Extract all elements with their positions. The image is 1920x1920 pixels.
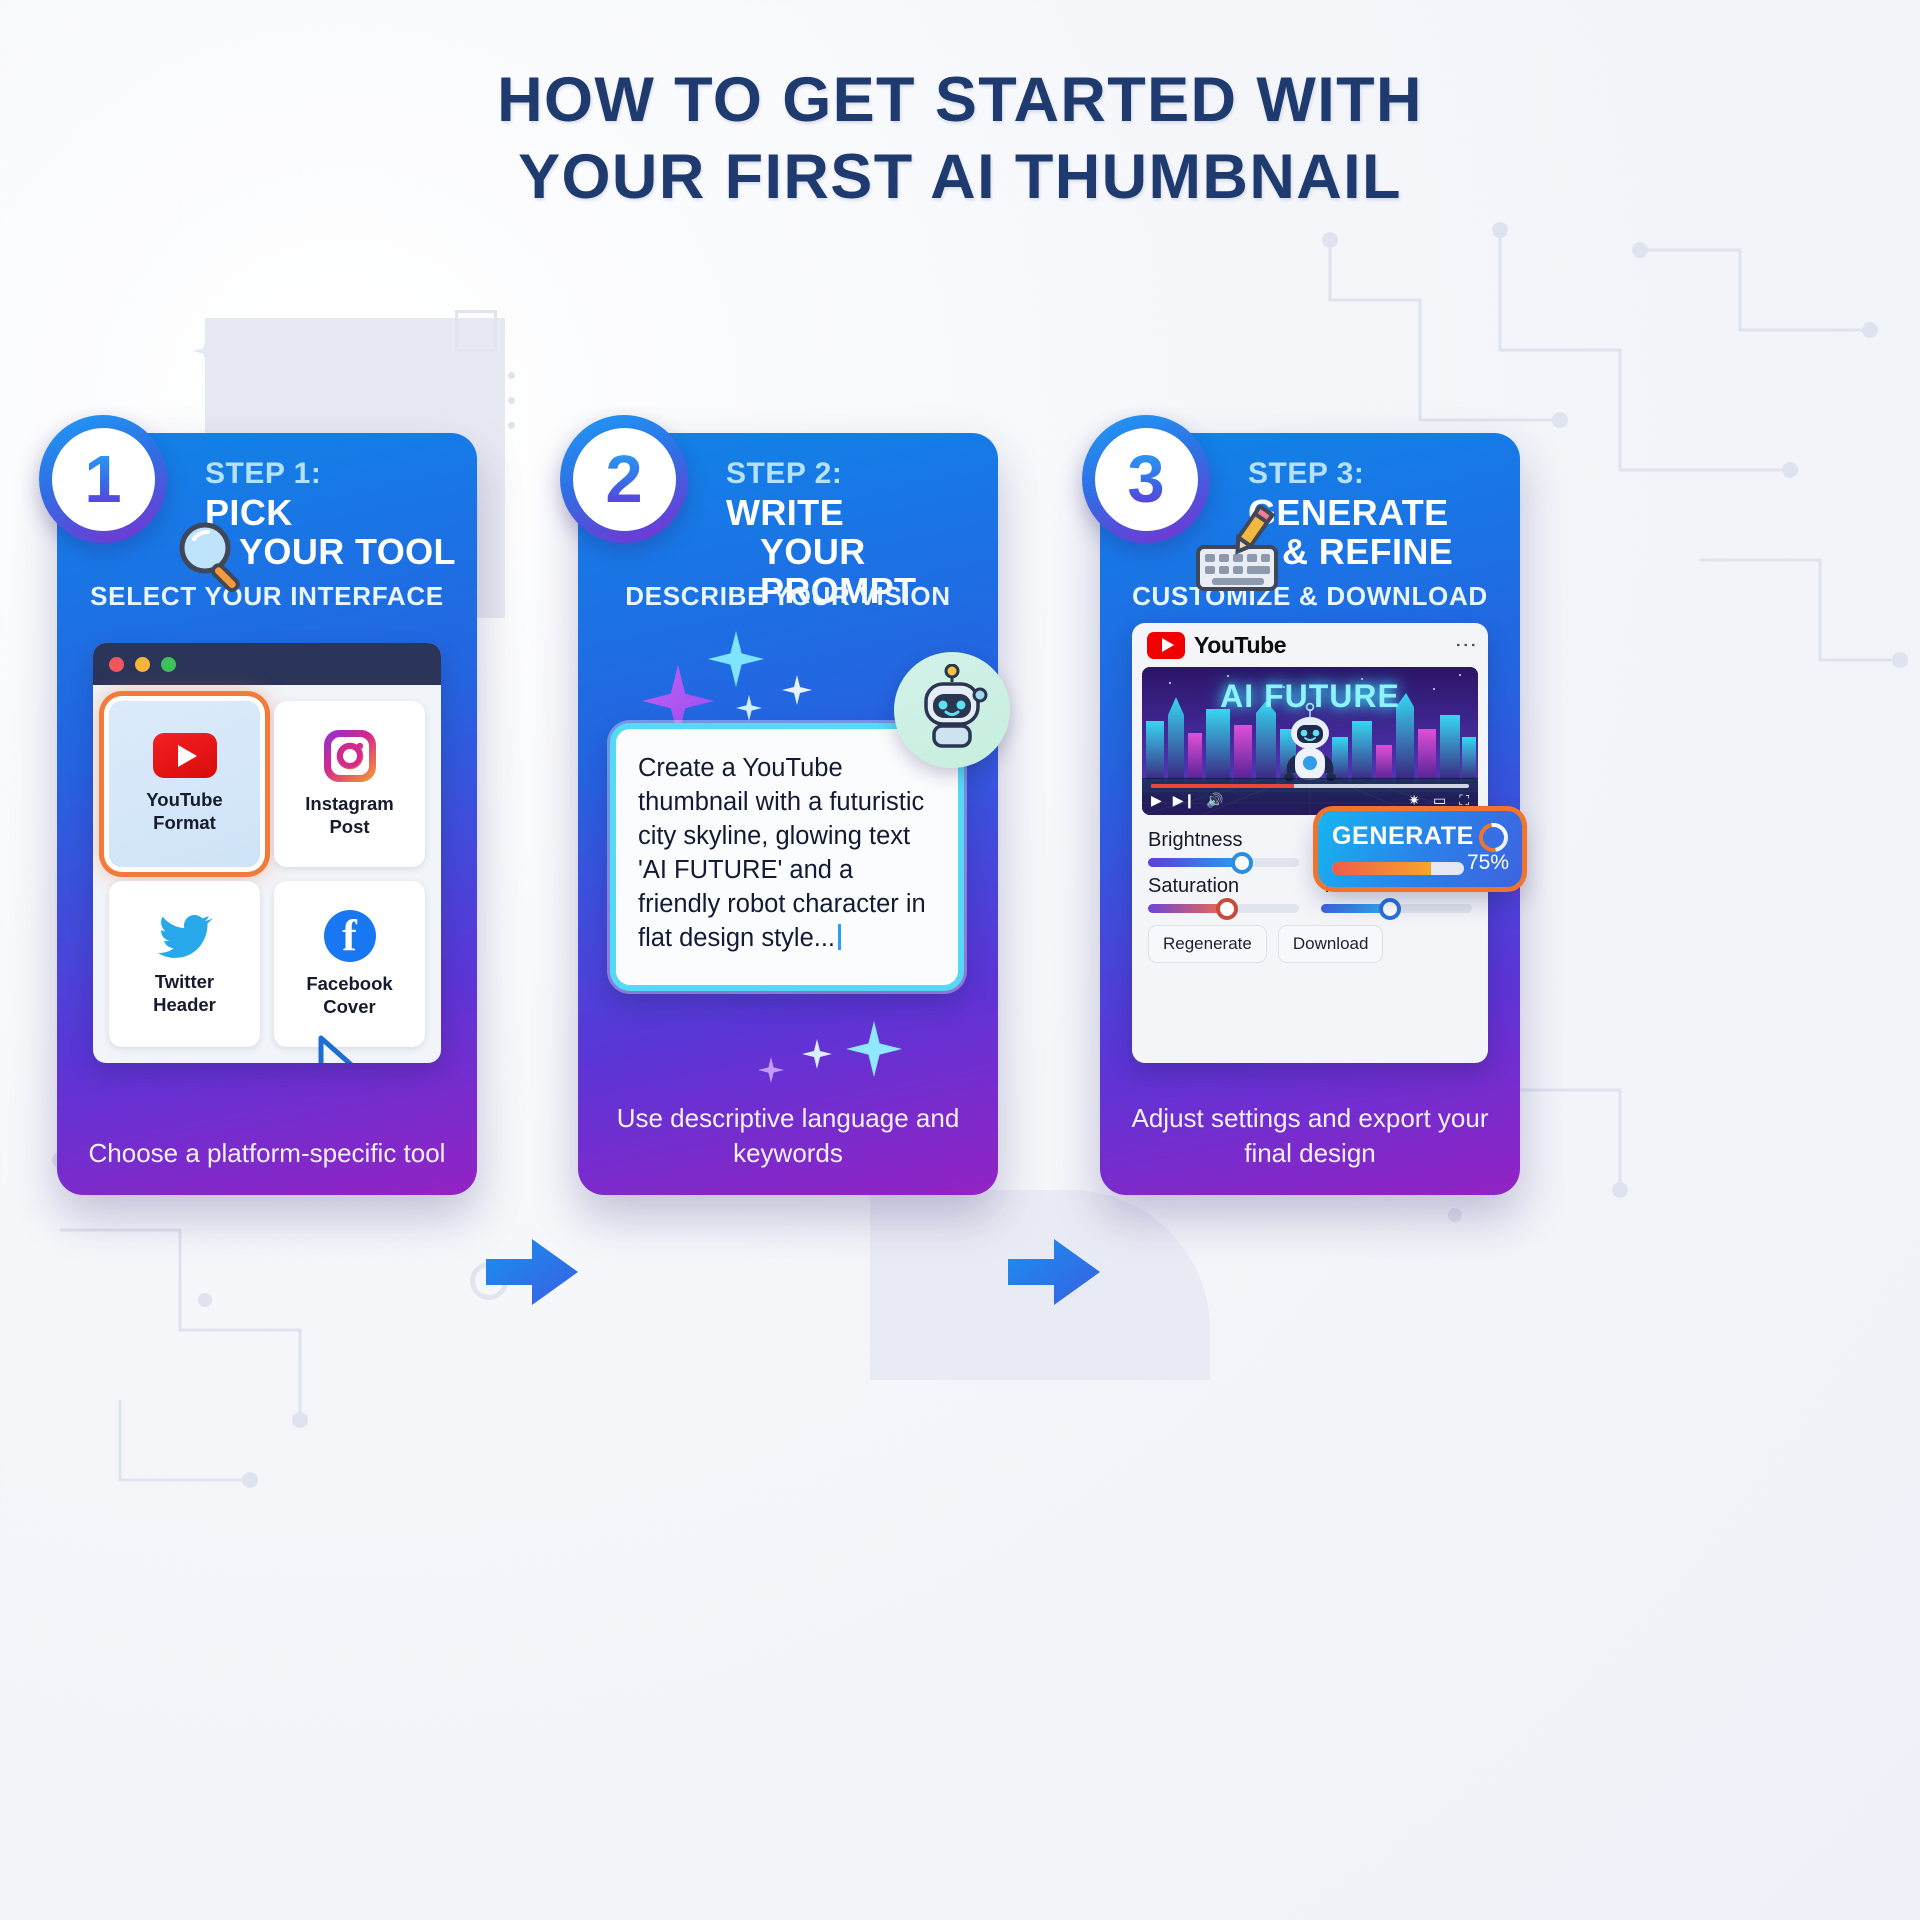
card-subtitle: DESCRIBE YOUR VISION (578, 581, 998, 612)
magnifier-icon (169, 515, 255, 601)
window-close-dot[interactable] (109, 657, 124, 672)
generate-progress-bar (1332, 862, 1464, 875)
settings-gear-icon[interactable]: ✷ (1408, 792, 1420, 809)
sparkle-icon (782, 675, 812, 705)
format-tile-grid: YouTube Format Instagram Post (93, 685, 441, 1063)
arrow-right-icon (484, 1235, 580, 1309)
youtube-brand-label: YouTube (1194, 632, 1286, 659)
player-controls: ▶ ▶❙ 🔊 ✷ ▭ ⛶ (1142, 778, 1478, 815)
card-caption: Use descriptive language and keywords (600, 1101, 976, 1171)
browser-titlebar (93, 643, 441, 685)
volume-icon[interactable]: 🔊 (1206, 792, 1223, 809)
instagram-icon (324, 730, 376, 782)
sparkle-icon (802, 1039, 832, 1069)
video-player[interactable]: AI FUTURE ▶ ▶❙ 🔊 ✷ ▭ ⛶ (1142, 667, 1478, 815)
step-number: 3 (1127, 446, 1164, 513)
slider-label: Brightness (1148, 829, 1299, 852)
card-subtitle: CUSTOMIZE & DOWNLOAD (1100, 581, 1520, 612)
step-card-1: 1 STEP 1: PICK YOUR TOOL SELECT YOUR INT… (57, 433, 477, 1195)
regenerate-button[interactable]: Regenerate (1148, 925, 1267, 963)
tile-label: Instagram Post (305, 793, 393, 838)
slider-label: Saturation (1148, 875, 1299, 898)
sparkle-icon (846, 1021, 902, 1077)
more-vertical-icon[interactable]: ⋮ (1460, 634, 1473, 656)
card-caption: Adjust settings and export your final de… (1122, 1101, 1498, 1171)
slider-knob[interactable] (1231, 852, 1253, 874)
heading-line-1: WRITE (726, 492, 844, 533)
step-badge-2: 2 (560, 415, 688, 543)
youtube-icon (153, 733, 217, 778)
title-line-1: HOW TO GET STARTED WITH (0, 62, 1920, 139)
play-icon[interactable]: ▶ (1151, 792, 1162, 809)
window-minimize-dot[interactable] (135, 657, 150, 672)
format-tile-youtube[interactable]: YouTube Format (109, 701, 260, 867)
step-label: STEP 1: (205, 457, 463, 491)
step-number: 1 (84, 446, 121, 513)
youtube-icon (1147, 632, 1185, 659)
step-card-2: 2 STEP 2: WRITE YOUR PROMPT DESCRIBE YOU… (578, 433, 998, 1195)
download-button[interactable]: Download (1278, 925, 1384, 963)
step-label: STEP 3: (1248, 457, 1506, 491)
heading-line-2: YOUR TOOL (239, 533, 463, 572)
action-buttons: Regenerate Download (1132, 921, 1488, 963)
prompt-input[interactable]: Create a YouTube thumbnail with a futuri… (610, 723, 964, 991)
sparkle-icon (758, 1057, 784, 1083)
window-maximize-dot[interactable] (161, 657, 176, 672)
arrow-right-icon (1006, 1235, 1102, 1309)
format-tile-twitter[interactable]: Twitter Header (109, 881, 260, 1047)
theater-mode-icon[interactable]: ▭ (1433, 792, 1446, 809)
keyboard-pencil-icon (1192, 505, 1288, 601)
heading-line-2: & REFINE (1282, 533, 1506, 572)
mouse-pointer-icon (315, 1035, 373, 1063)
slider-knob[interactable] (1216, 898, 1238, 920)
title-line-2: YOUR FIRST AI THUMBNAIL (0, 139, 1920, 216)
page-title: HOW TO GET STARTED WITH YOUR FIRST AI TH… (0, 62, 1920, 216)
generate-button[interactable]: GENERATE 75% (1318, 811, 1522, 887)
thumbnail-title-text: AI FUTURE (1142, 678, 1478, 715)
decor-square (455, 310, 497, 352)
slider-saturation[interactable]: Saturation (1148, 875, 1299, 913)
step-label: STEP 2: (726, 457, 984, 491)
tile-label: Facebook Cover (306, 973, 392, 1018)
format-tile-facebook[interactable]: f Facebook Cover (274, 881, 425, 1047)
sparkle-icon (708, 631, 764, 687)
sparkle-icon (193, 338, 219, 364)
facebook-icon: f (324, 910, 376, 962)
tile-label: YouTube Format (146, 789, 222, 834)
next-icon[interactable]: ▶❙ (1173, 792, 1196, 809)
step-number: 2 (605, 446, 642, 513)
text-caret (838, 924, 841, 950)
browser-mockup: YouTube Format Instagram Post (93, 643, 441, 1063)
progress-bar[interactable] (1151, 784, 1469, 788)
twitter-icon (157, 912, 213, 960)
fullscreen-icon[interactable]: ⛶ (1459, 792, 1469, 809)
slider-knob[interactable] (1379, 898, 1401, 920)
generate-progress-text: 75% (1467, 851, 1509, 875)
step-badge-1: 1 (39, 415, 167, 543)
step-badge-3: 3 (1082, 415, 1210, 543)
step-card-3: 3 STEP 3: GENERATE & REFINE CUSTOMIZE & … (1100, 433, 1520, 1195)
prompt-text: Create a YouTube thumbnail with a futuri… (638, 751, 936, 955)
slider-brightness[interactable]: Brightness (1148, 829, 1299, 867)
card-caption: Choose a platform-specific tool (79, 1136, 455, 1171)
tile-label: Twitter Header (153, 971, 216, 1016)
sparkle-icon (736, 695, 762, 721)
format-tile-instagram[interactable]: Instagram Post (274, 701, 425, 867)
card-subtitle: SELECT YOUR INTERFACE (57, 581, 477, 612)
robot-avatar-icon (894, 652, 1010, 768)
youtube-header: YouTube ⋮ (1132, 623, 1488, 667)
